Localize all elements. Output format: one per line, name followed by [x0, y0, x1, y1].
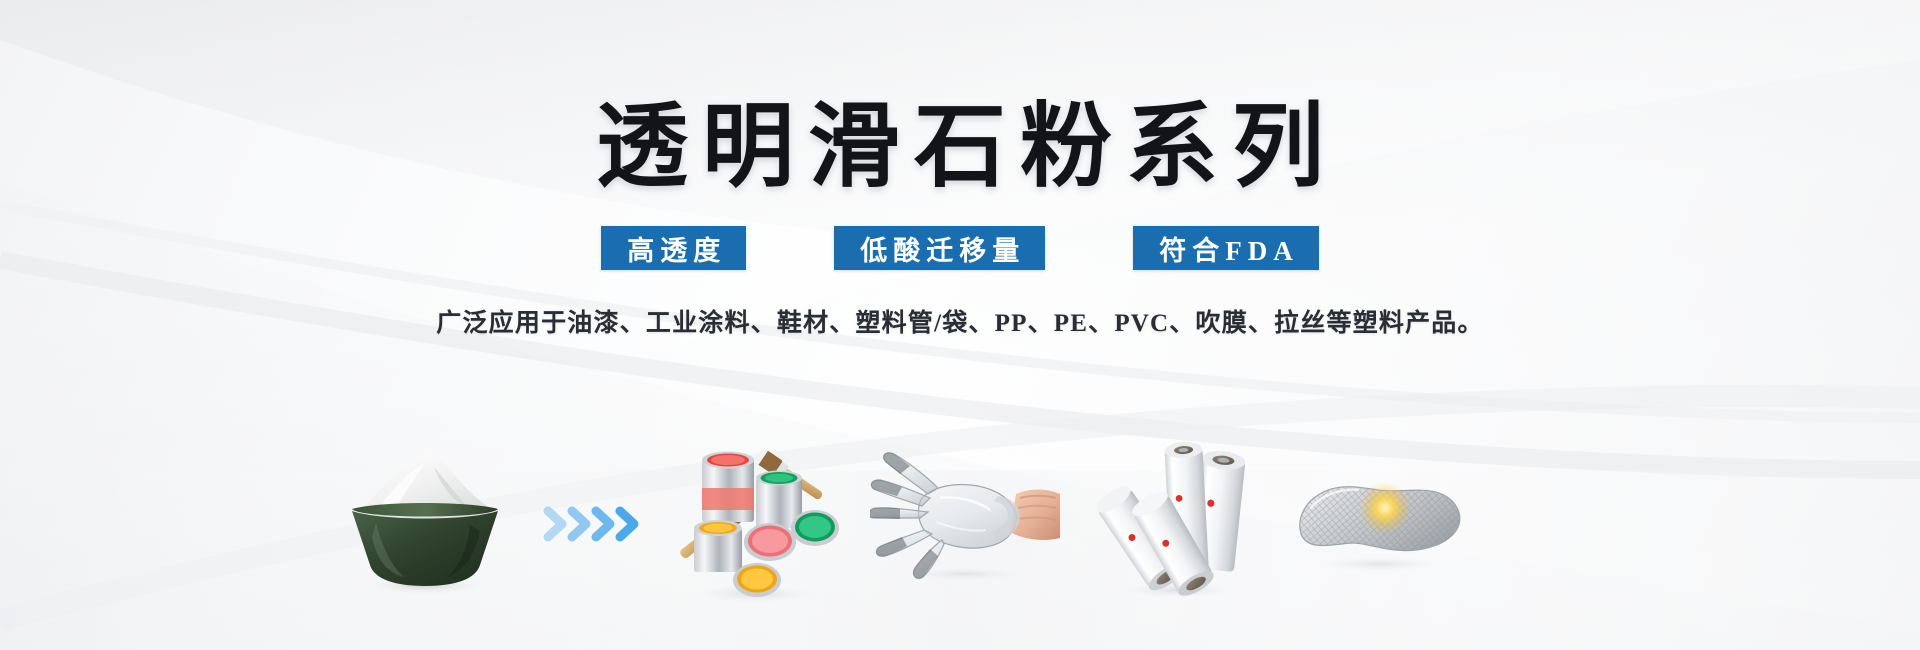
shoe-sole: [1285, 460, 1475, 575]
subtitle-container: 广泛应用于油漆、工业涂料、鞋材、塑料管/袋、PP、PE、PVC、吹膜、拉丝等塑料…: [0, 303, 1920, 339]
feature-badge-low-acid-migration[interactable]: 低酸迁移量: [834, 226, 1045, 270]
feature-badge-row: 高透度 低酸迁移量 符合FDA: [0, 226, 1920, 270]
paint-cans: [660, 430, 840, 605]
feature-badge-transparency[interactable]: 高透度: [601, 226, 746, 270]
plastic-glove: [870, 448, 1060, 583]
applications-subtitle: 广泛应用于油漆、工业涂料、鞋材、塑料管/袋、PP、PE、PVC、吹膜、拉丝等塑料…: [436, 303, 1483, 339]
product-banner: 透明滑石粉系列 高透度 低酸迁移量 符合FDA 广泛应用于油漆、工业涂料、鞋材、…: [0, 0, 1920, 650]
talc-powder-bowl: [330, 445, 520, 595]
page-title: 透明滑石粉系列: [582, 96, 1338, 199]
title-container: 透明滑石粉系列: [0, 96, 1920, 199]
feature-badge-fda-compliant[interactable]: 符合FDA: [1133, 226, 1319, 270]
process-arrows: [540, 499, 650, 549]
plastic-film-rolls: [1090, 442, 1265, 597]
application-image-strip: [330, 415, 1590, 605]
